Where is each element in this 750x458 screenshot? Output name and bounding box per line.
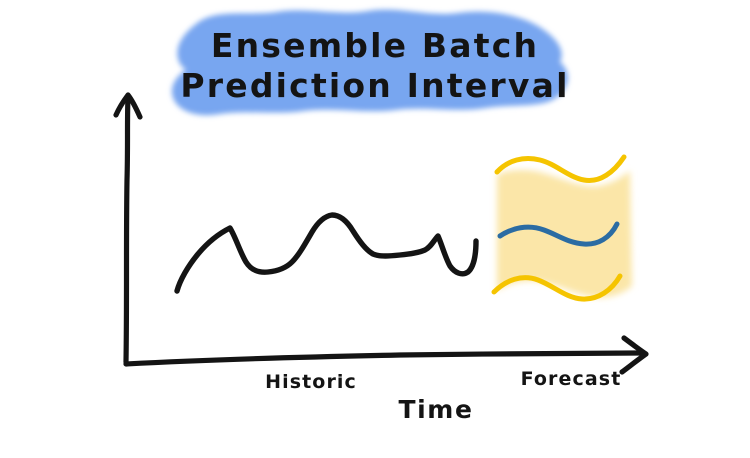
y-axis-line	[126, 97, 128, 362]
x-axis	[126, 338, 646, 372]
figure-title: Ensemble Batch Prediction Interval	[180, 26, 569, 105]
x-axis-line	[126, 353, 640, 364]
figure-canvas: Ensemble Batch Prediction Interval	[0, 0, 750, 458]
x-axis-title: Time	[398, 395, 473, 424]
x-axis-title-label: Time	[398, 395, 473, 424]
ensemble-prediction-interval-figure: Ensemble Batch Prediction Interval	[0, 0, 750, 458]
x-tick-labels: Historic Forecast	[265, 368, 621, 393]
title-line-1: Ensemble Batch	[211, 26, 539, 65]
historic-series-line	[177, 215, 476, 291]
y-axis	[116, 95, 140, 362]
x-tick-label-historic: Historic	[265, 371, 357, 393]
x-tick-label-forecast: Forecast	[521, 368, 622, 390]
title-line-2: Prediction Interval	[180, 66, 569, 105]
